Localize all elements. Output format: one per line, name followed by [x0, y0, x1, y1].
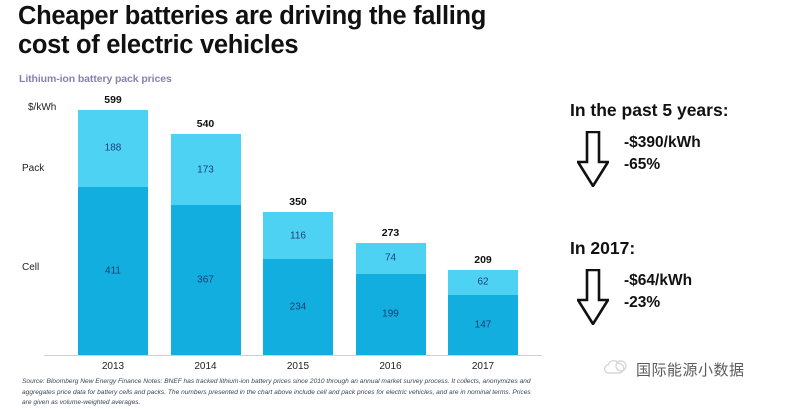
- bar-segment-pack[interactable]: 74: [356, 243, 426, 273]
- bar-segment-pack[interactable]: 62: [448, 270, 518, 295]
- chart-subtitle: Lithium-ion battery pack prices: [19, 73, 172, 85]
- callout-values: -$64/kWh -23%: [624, 270, 692, 314]
- callout-2017: In 2017: -$64/kWh -23%: [560, 238, 800, 331]
- arrow-down-icon: [577, 269, 609, 325]
- segment-value-cell: 234: [263, 302, 333, 313]
- segment-value-cell: 411: [78, 265, 148, 276]
- infographic-page: Cheaper batteries are driving the fallin…: [0, 0, 800, 409]
- segment-value-pack: 188: [78, 143, 148, 154]
- callout-heading: In 2017:: [570, 238, 800, 259]
- bar-total-label: 209: [448, 254, 518, 266]
- bar-group-2013[interactable]: 5991884112013: [78, 110, 148, 355]
- segment-value-cell: 367: [171, 274, 241, 285]
- callout-body: -$390/kWh -65%: [560, 131, 800, 193]
- x-axis-baseline: [44, 355, 542, 356]
- page-title: Cheaper batteries are driving the fallin…: [18, 2, 538, 60]
- bar-group-2015[interactable]: 3501162342015: [263, 212, 333, 355]
- bar-segment-pack[interactable]: 116: [263, 212, 333, 259]
- brand-name: 国际能源小数据: [636, 359, 745, 380]
- stacked-bar-plot: 5991884112013540173367201435011623420152…: [0, 95, 552, 370]
- callout-values: -$390/kWh -65%: [624, 132, 701, 176]
- callout-past-5-years: In the past 5 years: -$390/kWh -65%: [560, 100, 800, 193]
- cloud-logo-icon: [602, 358, 628, 380]
- x-axis-tick-2015: 2015: [263, 361, 333, 372]
- segment-value-pack: 116: [263, 230, 333, 241]
- callout-heading: In the past 5 years:: [570, 100, 800, 121]
- callout-value-percent: -23%: [624, 292, 692, 314]
- bar-segment-cell[interactable]: 367: [171, 205, 241, 355]
- bar-segment-pack[interactable]: 188: [78, 110, 148, 187]
- segment-value-cell: 147: [448, 319, 518, 330]
- bar-total-label: 350: [263, 196, 333, 208]
- bar-group-2017[interactable]: 209621472017: [448, 270, 518, 355]
- bar-group-2016[interactable]: 273741992016: [356, 243, 426, 355]
- callout-value-absolute: -$64/kWh: [624, 270, 692, 292]
- x-axis-tick-2016: 2016: [356, 361, 426, 372]
- bar-total-label: 540: [171, 118, 241, 130]
- segment-value-pack: 62: [448, 277, 518, 288]
- bar-segment-cell[interactable]: 234: [263, 259, 333, 355]
- x-axis-tick-2017: 2017: [448, 361, 518, 372]
- bar-group-2014[interactable]: 5401733672014: [171, 134, 241, 355]
- segment-value-pack: 173: [171, 164, 241, 175]
- segment-value-pack: 74: [356, 253, 426, 264]
- bar-total-label: 599: [78, 94, 148, 106]
- chart-panel: $/kWh Pack Cell 599188411201354017336720…: [0, 95, 552, 370]
- bar-segment-cell[interactable]: 411: [78, 187, 148, 355]
- callout-value-percent: -65%: [624, 154, 701, 176]
- bar-segment-pack[interactable]: 173: [171, 134, 241, 205]
- bar-segment-cell[interactable]: 147: [448, 295, 518, 355]
- arrow-down-icon: [577, 131, 609, 187]
- callout-body: -$64/kWh -23%: [560, 269, 800, 331]
- segment-value-cell: 199: [356, 309, 426, 320]
- callout-value-absolute: -$390/kWh: [624, 132, 701, 154]
- bar-segment-cell[interactable]: 199: [356, 274, 426, 355]
- brand-badge: 国际能源小数据: [602, 358, 745, 380]
- bar-total-label: 273: [356, 227, 426, 239]
- x-axis-tick-2014: 2014: [171, 361, 241, 372]
- source-note: Source: Bloomberg New Energy Finance Not…: [22, 377, 542, 409]
- x-axis-tick-2013: 2013: [78, 361, 148, 372]
